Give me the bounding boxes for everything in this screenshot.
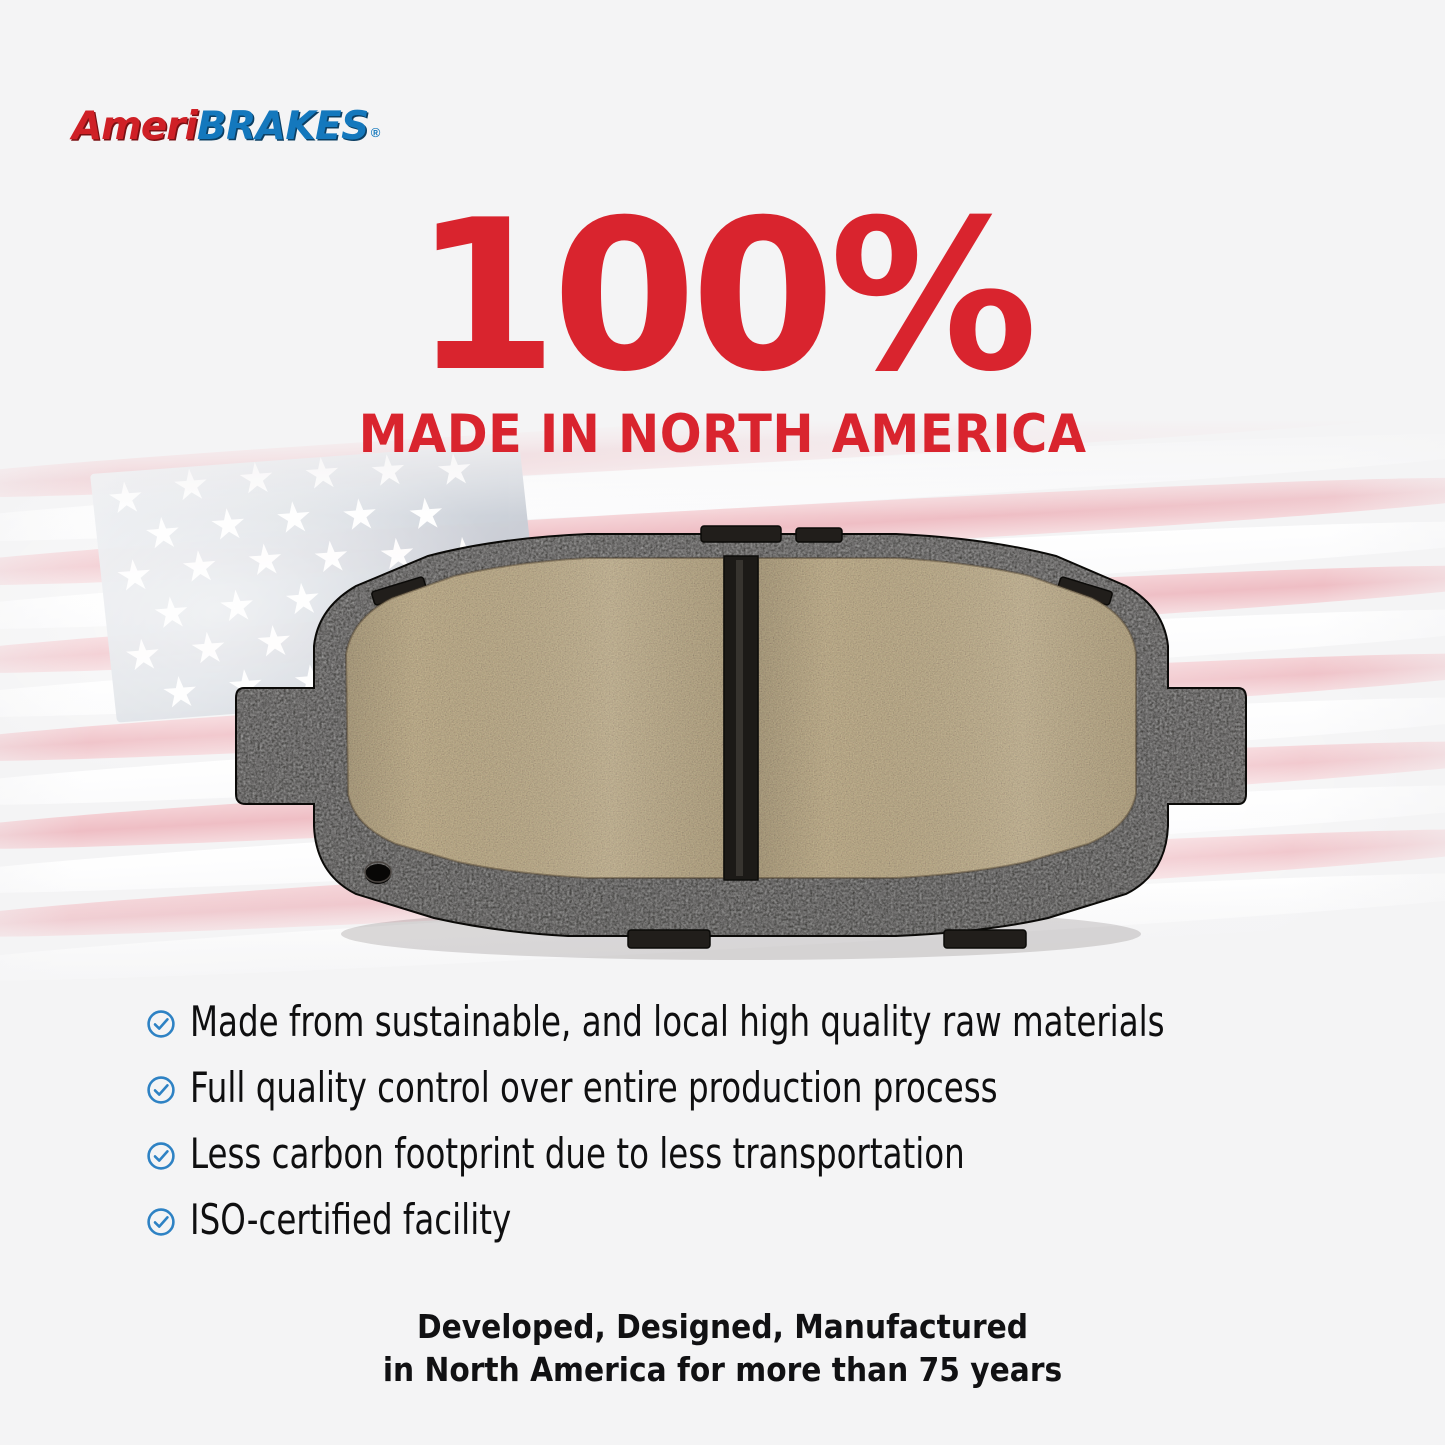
footer-line-2: in North America for more than 75 years <box>72 1349 1373 1392</box>
benefits-list: Made from sustainable, and local high qu… <box>146 1000 1346 1264</box>
friction-material-left <box>346 558 724 878</box>
percent-heading: 100% <box>0 196 1445 400</box>
check-circle-icon <box>146 1009 176 1039</box>
registered-trademark-icon: ® <box>371 125 380 140</box>
ameribrakes-logo[interactable]: AmeriBRAKES® <box>72 104 379 149</box>
list-item: Less carbon footprint due to less transp… <box>146 1132 1346 1176</box>
friction-material-right <box>758 558 1136 878</box>
headline-block: 100% MADE IN NORTH AMERICA <box>0 196 1445 461</box>
list-item-label: Less carbon footprint due to less transp… <box>190 1132 965 1176</box>
made-in-subtitle: MADE IN NORTH AMERICA <box>51 408 1395 461</box>
list-item: Full quality control over entire product… <box>146 1066 1346 1110</box>
brake-pad-product-image <box>196 526 1286 956</box>
list-item-label: Made from sustainable, and local high qu… <box>190 1000 1165 1044</box>
pad-mounting-hole <box>365 862 391 884</box>
check-circle-icon <box>146 1141 176 1171</box>
list-item: ISO-certified facility <box>146 1198 1346 1242</box>
pad-wear-slot <box>724 556 758 880</box>
footer-block: Developed, Designed, Manufactured in Nor… <box>0 1306 1445 1392</box>
list-item: Made from sustainable, and local high qu… <box>146 1000 1346 1044</box>
list-item-label: ISO-certified facility <box>190 1198 511 1242</box>
logo-text-ameri: Ameri <box>72 104 197 149</box>
check-circle-icon <box>146 1207 176 1237</box>
footer-line-1: Developed, Designed, Manufactured <box>72 1306 1373 1349</box>
logo-text-brakes: BRAKES <box>197 104 369 149</box>
list-item-label: Full quality control over entire product… <box>190 1066 998 1110</box>
check-circle-icon <box>146 1075 176 1105</box>
product-marketing-poster: AmeriBRAKES® 100% MADE IN NORTH AMERICA <box>0 0 1445 1445</box>
